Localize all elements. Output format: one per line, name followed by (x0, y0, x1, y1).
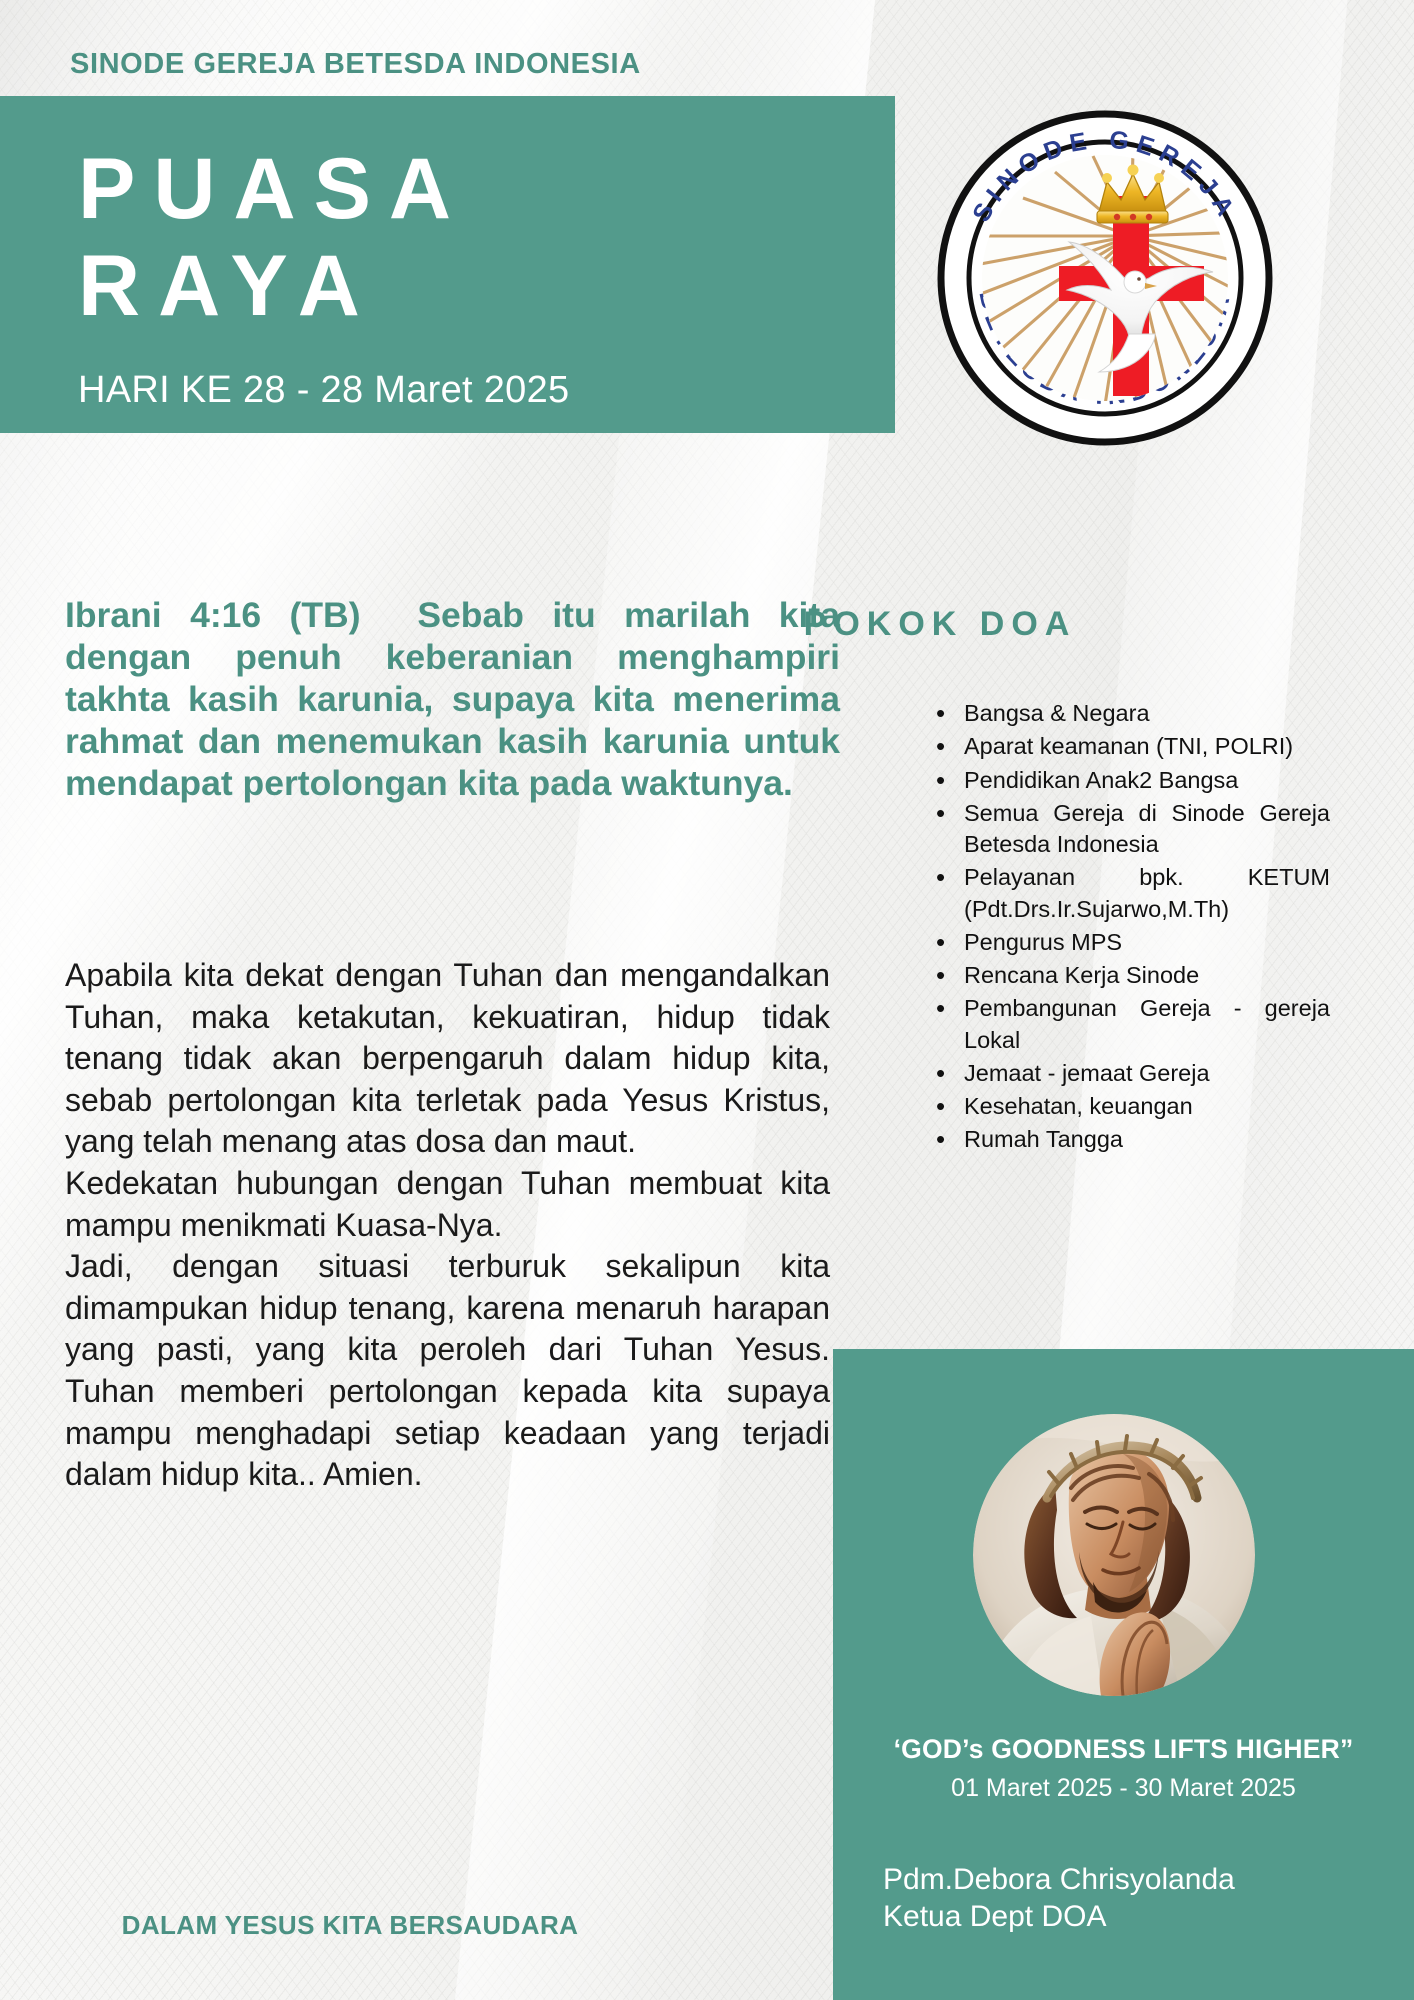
list-item: Rencana Kerja Sinode (930, 960, 1330, 991)
list-item: Rumah Tangga (930, 1124, 1330, 1155)
signature-card: ‘GOD’s GOODNESS LIFTS HIGHER” 01 Maret 2… (833, 1349, 1414, 2000)
prayer-points-list: Bangsa & Negara Aparat keamanan (TNI, PO… (930, 698, 1330, 1158)
list-item: Bangsa & Negara (930, 698, 1330, 729)
list-item: Pembangunan Gereja - gereja Lokal (930, 993, 1330, 1056)
list-item: Kesehatan, keuangan (930, 1091, 1330, 1122)
hero-title-line2: RAYA (78, 245, 895, 328)
card-theme-text: ‘GOD’s GOODNESS LIFTS HIGHER” (833, 1734, 1414, 1765)
jesus-portrait-image (973, 1414, 1255, 1696)
footer-motto: DALAM YESUS KITA BERSAUDARA (0, 1910, 700, 1941)
list-item: Jemaat - jemaat Gereja (930, 1058, 1330, 1089)
signatory-name: Pdm.Debora Chrisyolanda (883, 1862, 1235, 1899)
card-date-range: 01 Maret 2025 - 30 Maret 2025 (833, 1774, 1414, 1803)
scripture-reference: Ibrani 4:16 (TB) (65, 595, 361, 635)
hero-date-line: HARI KE 28 - 28 Maret 2025 (78, 369, 895, 412)
prayer-points-title: POKOK DOA (804, 605, 1077, 644)
organization-logo: SINODE GEREJA BETESDA INDONESIA (935, 108, 1275, 448)
list-item: Aparat keamanan (TNI, POLRI) (930, 731, 1330, 762)
seal-icon: SINODE GEREJA BETESDA INDONESIA (935, 108, 1275, 448)
list-item: Semua Gereja di Sinode Gereja Betesda In… (930, 798, 1330, 861)
card-signature: Pdm.Debora Chrisyolanda Ketua Dept DOA (883, 1862, 1235, 1935)
devotional-paragraph: Jadi, dengan situasi terburuk sekalipun … (65, 1246, 830, 1496)
organization-title: SINODE GEREJA BETESDA INDONESIA (70, 48, 641, 81)
devotional-paragraph: Kedekatan hubungan dengan Tuhan membuat … (65, 1163, 830, 1246)
scripture-verse: Ibrani 4:16 (TB) Sebab itu marilah kita … (65, 595, 840, 804)
signatory-role: Ketua Dept DOA (883, 1899, 1235, 1936)
devotional-paragraph: Apabila kita dekat dengan Tuhan dan meng… (65, 955, 830, 1163)
hero-banner: PUASA RAYA HARI KE 28 - 28 Maret 2025 (0, 96, 895, 433)
list-item: Pelayanan bpk. KETUM (Pdt.Drs.Ir.Sujarwo… (930, 862, 1330, 925)
jesus-praying-icon (973, 1414, 1255, 1696)
poster-root: SINODE GEREJA BETESDA INDONESIA PUASA RA… (0, 0, 1414, 2000)
list-item: Pengurus MPS (930, 927, 1330, 958)
list-item: Pendidikan Anak2 Bangsa (930, 765, 1330, 796)
hero-title-line1: PUASA (78, 96, 895, 231)
devotional-body: Apabila kita dekat dengan Tuhan dan meng… (65, 955, 830, 1496)
